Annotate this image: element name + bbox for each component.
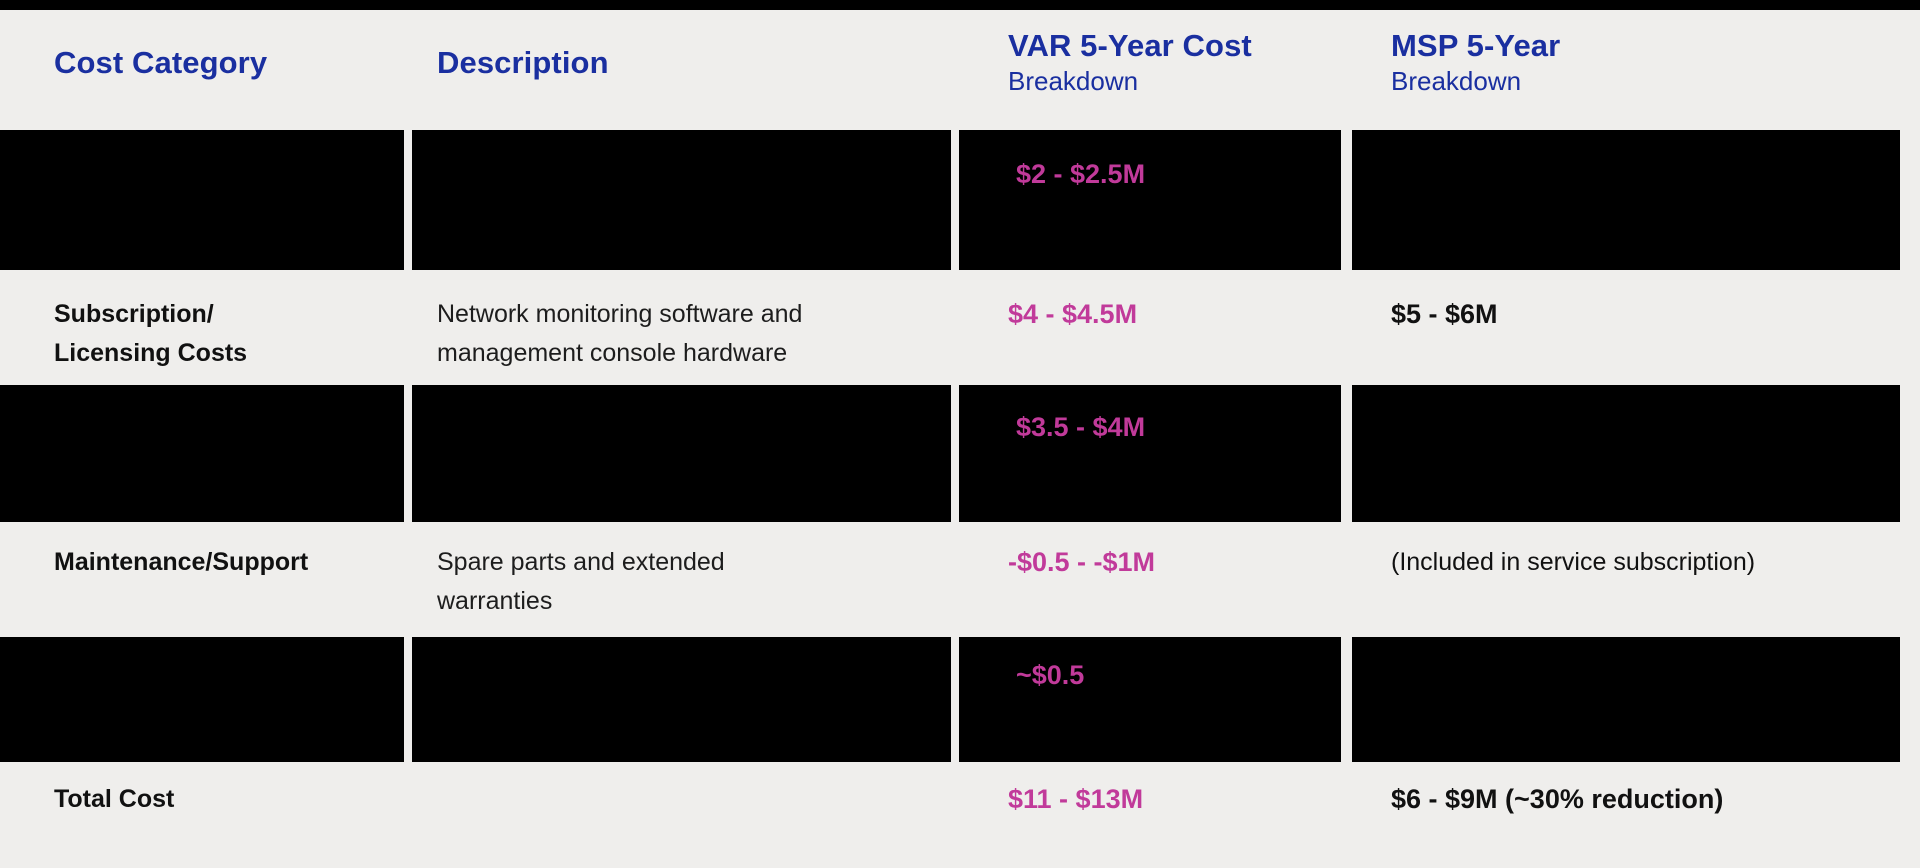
msp-cost-value: (Included in service subscription) — [1391, 543, 1920, 582]
redaction-block-description — [412, 385, 951, 522]
cell-msp-cost: $5 - $6M — [1341, 295, 1920, 391]
description-line-2: management console hardware — [437, 334, 951, 373]
redaction-block-description — [412, 130, 951, 270]
cost-category-line-2: Licensing Costs — [54, 334, 404, 373]
var-cost-value: $4 - $4.5M — [1008, 295, 1341, 334]
var-cost-value: ~$0.5 — [1016, 659, 1084, 691]
redaction-block-cost-category — [0, 637, 404, 762]
table-header-row: Cost Category Description VAR 5-Year Cos… — [0, 10, 1920, 120]
description-line-1: Network monitoring software and — [437, 295, 951, 334]
msp-cost-value: $6 - $9M (~30% reduction) — [1391, 780, 1920, 819]
redaction-block-description — [412, 637, 951, 762]
description-line-1: Spare parts and extended — [437, 543, 951, 582]
cell-cost-category: Maintenance/Support — [0, 543, 404, 639]
redaction-block-msp-cost — [1352, 385, 1900, 522]
cell-var-cost: -$0.5 - -$1M — [951, 543, 1341, 639]
column-header-description: Description — [404, 10, 951, 82]
column-header-title: Cost Category — [54, 10, 404, 82]
cell-cost-category: Total Cost — [0, 780, 404, 840]
table-row: $3.5 - $4M — [0, 385, 1920, 522]
column-header-msp-cost: MSP 5-Year Breakdown — [1341, 10, 1920, 97]
cell-msp-cost: $6 - $9M (~30% reduction) — [1341, 780, 1920, 840]
column-header-cost-category: Cost Category — [0, 10, 404, 82]
cost-comparison-table: Cost Category Description VAR 5-Year Cos… — [0, 10, 1920, 868]
cost-category-line-1: Total Cost — [54, 780, 404, 819]
table-row: $2 - $2.5M — [0, 130, 1920, 270]
table-row: Subscription/ Licensing Costs Network mo… — [0, 295, 1920, 391]
cost-category-line-1: Maintenance/Support — [54, 543, 404, 582]
var-cost-value: -$0.5 - -$1M — [1008, 543, 1341, 582]
redaction-block-msp-cost — [1352, 637, 1900, 762]
var-cost-value: $2 - $2.5M — [1016, 158, 1145, 190]
cell-cost-category: Subscription/ Licensing Costs — [0, 295, 404, 391]
redaction-block-cost-category — [0, 385, 404, 522]
table-row-total: Total Cost $11 - $13M $6 - $9M (~30% red… — [0, 780, 1920, 840]
redaction-block-msp-cost — [1352, 130, 1900, 270]
description-line-2: warranties — [437, 582, 951, 621]
redaction-block-cost-category — [0, 130, 404, 270]
cell-description: Spare parts and extended warranties — [404, 543, 951, 639]
cell-description — [404, 780, 951, 840]
column-header-subtitle: Breakdown — [1391, 65, 1920, 97]
redaction-block-var-cost — [959, 385, 1341, 522]
cell-var-cost: $11 - $13M — [951, 780, 1341, 840]
column-header-title: VAR 5-Year Cost — [1008, 10, 1341, 65]
column-header-title: Description — [437, 10, 951, 82]
column-header-subtitle: Breakdown — [1008, 65, 1341, 97]
cost-category-line-1: Subscription/ — [54, 295, 404, 334]
redaction-block-var-cost — [959, 130, 1341, 270]
cell-var-cost: $4 - $4.5M — [951, 295, 1341, 391]
table-page: Cost Category Description VAR 5-Year Cos… — [0, 0, 1920, 868]
msp-cost-value: $5 - $6M — [1391, 295, 1920, 334]
top-black-strip — [0, 0, 1920, 10]
redaction-block-var-cost — [959, 637, 1341, 762]
column-header-title: MSP 5-Year — [1391, 10, 1920, 65]
table-row: Maintenance/Support Spare parts and exte… — [0, 543, 1920, 639]
var-cost-value: $11 - $13M — [1008, 780, 1341, 819]
cell-msp-cost: (Included in service subscription) — [1341, 543, 1920, 639]
column-header-var-cost: VAR 5-Year Cost Breakdown — [951, 10, 1341, 97]
table-row: ~$0.5 — [0, 637, 1920, 762]
cell-description: Network monitoring software and manageme… — [404, 295, 951, 391]
var-cost-value: $3.5 - $4M — [1016, 411, 1145, 443]
